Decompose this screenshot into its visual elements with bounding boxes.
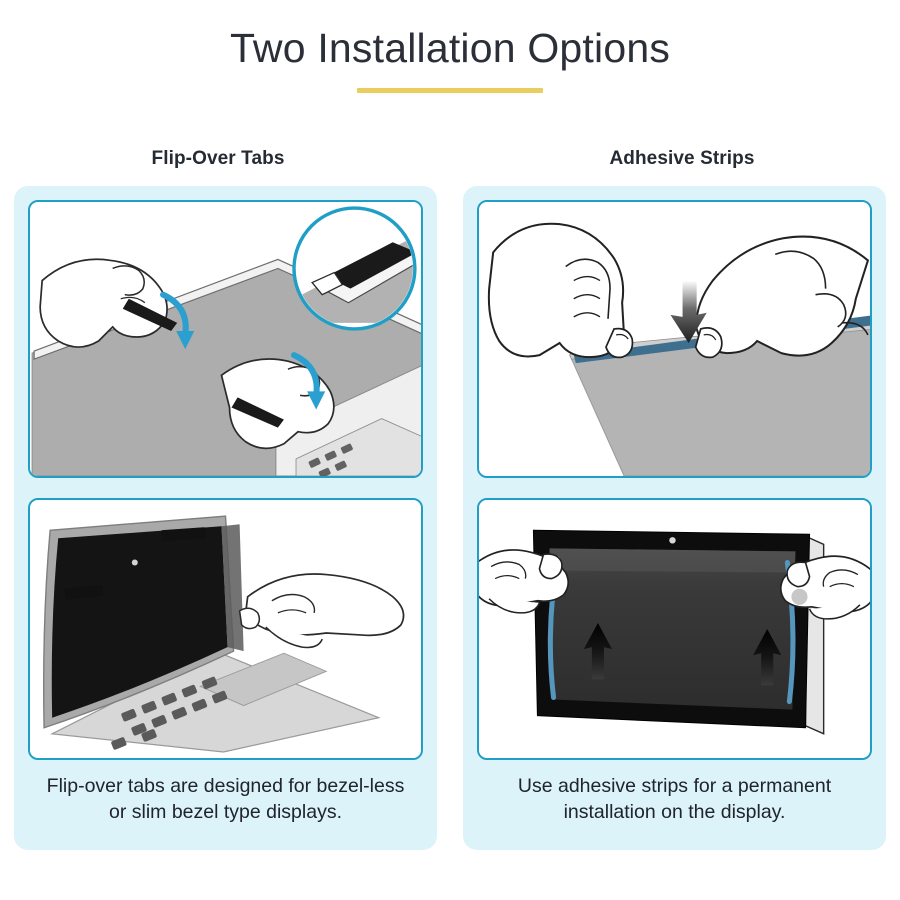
flip-over-tabs-fold-illustration xyxy=(30,202,421,476)
infographic-page: Two Installation Options Flip-Over Tabs … xyxy=(0,0,900,900)
caption-adhesive-strips: Use adhesive strips for a permanent inst… xyxy=(477,760,872,840)
column-headings: Flip-Over Tabs Adhesive Strips xyxy=(0,148,900,170)
header: Two Installation Options xyxy=(0,26,900,93)
adhesive-strips-press-illustration xyxy=(479,202,870,476)
title-underline-rule xyxy=(357,88,543,93)
flip-over-tabs-laptop-removal-illustration xyxy=(30,500,421,758)
caption-flip-over-tabs: Flip-over tabs are designed for bezel-le… xyxy=(28,760,423,840)
column-heading-flip-over-tabs: Flip-Over Tabs xyxy=(0,148,450,170)
image-card-flip-over-tabs-laptop xyxy=(28,498,423,760)
panel-flip-over-tabs: Flip-over tabs are designed for bezel-le… xyxy=(14,186,437,850)
panel-adhesive-strips: Use adhesive strips for a permanent inst… xyxy=(463,186,886,850)
options-panels: Flip-over tabs are designed for bezel-le… xyxy=(14,186,886,850)
image-card-flip-over-tabs-fold xyxy=(28,200,423,478)
image-card-adhesive-strips-press xyxy=(477,200,872,478)
page-title: Two Installation Options xyxy=(0,26,900,71)
image-card-adhesive-strips-monitor xyxy=(477,498,872,760)
column-heading-adhesive-strips: Adhesive Strips xyxy=(450,148,900,170)
adhesive-strips-monitor-illustration xyxy=(479,500,870,758)
